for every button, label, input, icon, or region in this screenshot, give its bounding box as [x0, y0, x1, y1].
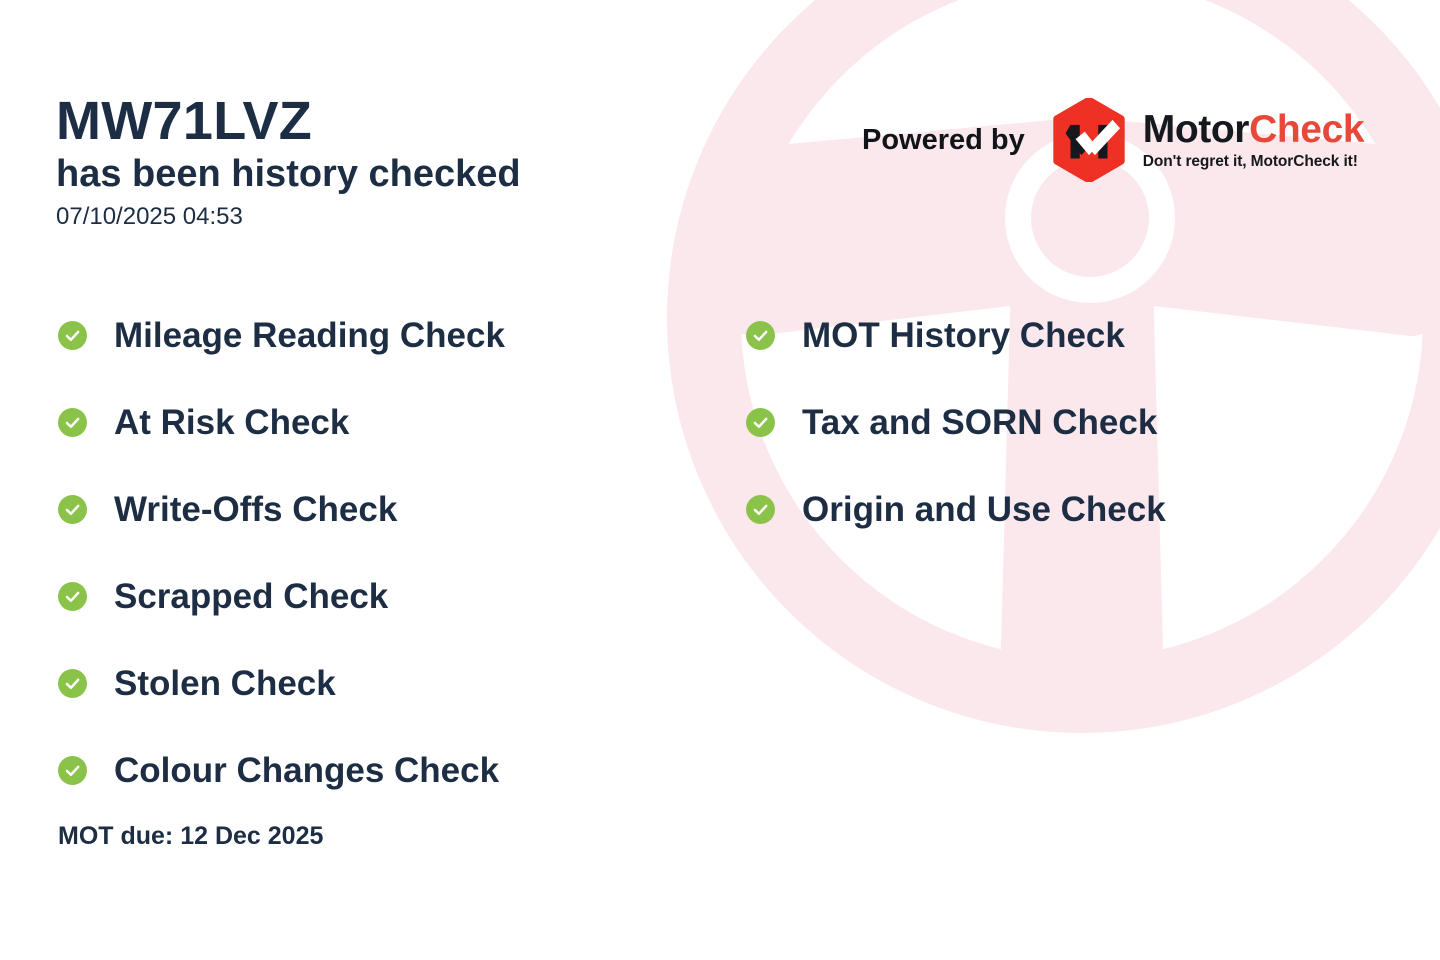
list-item: Origin and Use Check — [746, 466, 1166, 553]
list-item: Scrapped Check — [58, 553, 505, 640]
wordmark-motor: Motor — [1143, 108, 1249, 151]
check-list-left: Mileage Reading Check At Risk Check Writ… — [58, 292, 505, 814]
powered-by-block: Powered by MotorCheck Don't regret it, M… — [862, 98, 1364, 182]
list-item: Write-Offs Check — [58, 466, 505, 553]
check-label: MOT History Check — [802, 318, 1125, 353]
list-item: Colour Changes Check — [58, 727, 505, 814]
check-circle-icon — [58, 756, 87, 785]
check-label: Colour Changes Check — [114, 753, 499, 788]
check-label: Tax and SORN Check — [802, 405, 1157, 440]
motorcheck-hexagon-icon — [1047, 98, 1131, 182]
check-label: Stolen Check — [114, 666, 336, 701]
list-item: Tax and SORN Check — [746, 379, 1166, 466]
check-circle-icon — [58, 669, 87, 698]
check-circle-icon — [58, 408, 87, 437]
check-timestamp: 07/10/2025 04:53 — [56, 203, 521, 231]
check-circle-icon — [58, 321, 87, 350]
check-circle-icon — [746, 495, 775, 524]
check-circle-icon — [746, 408, 775, 437]
powered-by-label: Powered by — [862, 124, 1025, 157]
motorcheck-wordmark: MotorCheck — [1143, 110, 1364, 149]
check-circle-icon — [58, 582, 87, 611]
check-label: Scrapped Check — [114, 579, 388, 614]
mot-due-note: MOT due: 12 Dec 2025 — [58, 822, 323, 851]
check-label: At Risk Check — [114, 405, 349, 440]
list-item: At Risk Check — [58, 379, 505, 466]
check-circle-icon — [746, 321, 775, 350]
header-block: MW71LVZ has been history checked 07/10/2… — [56, 92, 521, 231]
page-title: has been history checked — [56, 152, 521, 197]
vehicle-history-check-card: MW71LVZ has been history checked 07/10/2… — [0, 0, 1440, 960]
check-list-right: MOT History Check Tax and SORN Check Ori… — [746, 292, 1166, 553]
check-circle-icon — [58, 495, 87, 524]
check-label: Mileage Reading Check — [114, 318, 505, 353]
registration-plate: MW71LVZ — [56, 92, 521, 150]
list-item: MOT History Check — [746, 292, 1166, 379]
list-item: Stolen Check — [58, 640, 505, 727]
motorcheck-logo[interactable]: MotorCheck Don't regret it, MotorCheck i… — [1047, 98, 1364, 182]
list-item: Mileage Reading Check — [58, 292, 505, 379]
check-label: Write-Offs Check — [114, 492, 397, 527]
check-label: Origin and Use Check — [802, 492, 1166, 527]
wordmark-check: Check — [1249, 108, 1364, 151]
brand-tagline: Don't regret it, MotorCheck it! — [1143, 154, 1364, 170]
